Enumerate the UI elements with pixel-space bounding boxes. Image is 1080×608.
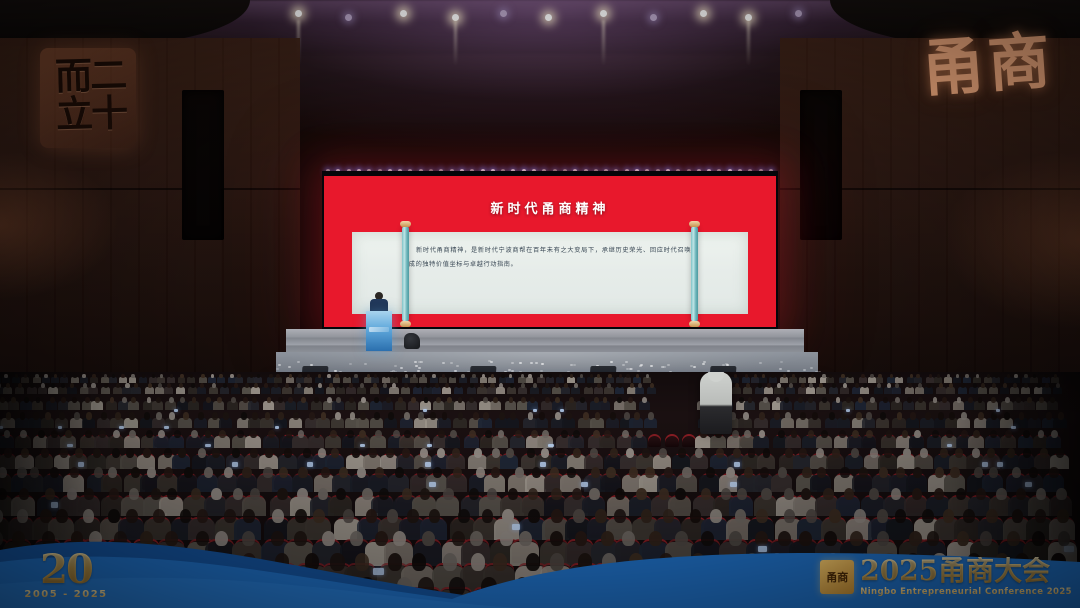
audience-member-head	[591, 467, 600, 478]
audience-member-head	[361, 397, 366, 403]
audience-member-head	[555, 397, 560, 403]
audience-member-head	[629, 467, 638, 478]
audience-member-head	[1036, 488, 1046, 501]
audience-member-body	[953, 377, 961, 383]
audience-member-head	[743, 412, 749, 419]
audience-phone-screen	[758, 546, 767, 553]
audience-member-head	[642, 397, 647, 403]
wall-door-right	[800, 90, 842, 240]
audience-member-head	[447, 397, 452, 403]
audience-member-head	[108, 509, 120, 523]
audience-member-head	[346, 374, 349, 378]
audience-member-head	[528, 488, 538, 501]
audience-member-head	[595, 412, 601, 419]
audience-member-head	[1007, 531, 1020, 547]
audience-member-head	[1004, 412, 1010, 419]
confetti-speck	[297, 361, 300, 363]
audience-member-head	[336, 488, 346, 501]
audience-member-head	[990, 430, 997, 438]
audience-member-body	[401, 387, 410, 394]
audience-member-head	[191, 430, 198, 438]
audience-phone-screen	[540, 462, 546, 466]
audience-member-head	[774, 412, 780, 419]
audience-member-head	[542, 430, 549, 438]
audience-member-head	[4, 430, 11, 438]
audience-phone-screen	[122, 546, 131, 553]
audience-member-body	[874, 387, 883, 394]
audience-member-body	[209, 387, 218, 394]
audience-member-head	[594, 397, 599, 403]
audience-member-head	[604, 430, 611, 438]
audience-member-head	[472, 374, 475, 378]
audience-member-head	[73, 374, 76, 378]
audience-member-head	[217, 553, 231, 570]
audience-member-head	[716, 448, 724, 458]
audience-member-body	[732, 387, 741, 394]
audience-member-head	[920, 448, 928, 458]
audience-member-head	[335, 374, 338, 378]
audience-phone-screen	[423, 409, 427, 412]
confetti-speck	[702, 363, 705, 365]
audience-member-head	[404, 412, 410, 419]
audience-member-head	[330, 430, 337, 438]
audience-member-head	[934, 488, 944, 501]
audience-member-body	[467, 387, 476, 394]
audience-member-head	[628, 397, 633, 403]
audience-member-head	[252, 412, 258, 419]
conference-logo-text: 2025甬商大会 Ningbo Entrepreneurial Conferen…	[860, 557, 1072, 597]
audience-member-head	[318, 448, 326, 458]
audience-member-head	[510, 383, 514, 388]
audience-member-body	[286, 377, 294, 383]
audience-member-head	[250, 374, 253, 378]
audience-member-head	[578, 553, 592, 570]
audience-member-head	[870, 448, 878, 458]
led-screen: 新时代甬商精神 新时代甬商精神，是新时代宁波商帮在百年未有之大变局下，承继历史荣…	[322, 171, 778, 329]
audience-member-head	[398, 397, 403, 403]
audience-member-head	[219, 430, 226, 438]
podium-logo	[369, 327, 389, 332]
conference-seal-icon: 甬商	[820, 560, 854, 594]
audience-member-head	[305, 553, 319, 570]
audience-member-head	[521, 383, 525, 388]
audience-phone-screen	[734, 462, 740, 466]
audience-member-head	[927, 531, 940, 547]
audience-member-body	[477, 387, 486, 394]
audience-member-head	[450, 430, 457, 438]
audience-member-head	[330, 553, 344, 570]
audience-member-head	[856, 412, 862, 419]
audience-member-head	[823, 488, 833, 501]
audience-member-head	[147, 397, 152, 403]
audience-member-head	[469, 397, 474, 403]
audience-member-head	[429, 509, 441, 523]
audience-member-body	[546, 377, 554, 383]
audience-member-head	[976, 488, 986, 501]
audience-member-head	[1014, 374, 1017, 378]
audience-member-head	[602, 553, 616, 570]
audience-member-head	[483, 397, 488, 403]
audience-member-head	[991, 397, 996, 403]
audience-member-head	[696, 577, 712, 596]
audience-member-head	[1050, 397, 1055, 403]
audience-member-head	[442, 412, 448, 419]
confetti-speck	[810, 367, 813, 369]
audience-member-head	[140, 553, 154, 570]
audience-member-head	[557, 448, 565, 458]
audience-member-head	[264, 383, 268, 388]
audience-member-head	[254, 383, 258, 388]
audience-member-head	[70, 467, 79, 478]
audience-member-head	[645, 467, 654, 478]
audience-member-head	[0, 577, 16, 596]
audience-member-head	[204, 467, 213, 478]
audience-member-body	[742, 377, 750, 383]
audience-member-head	[1056, 488, 1066, 501]
audience-member-head	[242, 467, 251, 478]
audience-member-head	[298, 430, 305, 438]
audience-member-head	[1016, 488, 1026, 501]
audience-member-head	[957, 531, 970, 547]
audience-member-head	[550, 553, 564, 570]
audience-member-head	[243, 509, 255, 523]
audience-member-head	[843, 383, 847, 388]
audience-member-body	[643, 377, 651, 383]
audience-member-head	[354, 374, 357, 378]
audience-member-head	[85, 397, 90, 403]
audience-member-head	[230, 374, 233, 378]
audience-member-head	[156, 397, 161, 403]
audience-member-head	[487, 488, 497, 501]
audience-member-head	[75, 448, 83, 458]
audience-member-head	[205, 430, 212, 438]
audience-member-head	[737, 488, 747, 501]
audience-member-body	[936, 387, 945, 394]
audience-member-body	[905, 387, 914, 394]
audience-member-body	[0, 377, 1, 383]
audience-member-head	[910, 374, 913, 378]
audience-member-head	[530, 397, 535, 403]
audience-member-body	[944, 377, 952, 383]
audience-member-head	[946, 430, 953, 438]
audience-member-head	[869, 488, 879, 501]
audience-member-head	[492, 448, 500, 458]
conference-subtitle: Ningbo Entrepreneurial Conference 2025	[860, 587, 1072, 597]
audience-member-body	[860, 387, 869, 394]
audience-member-head	[942, 397, 947, 403]
audience-member-head	[636, 374, 639, 378]
audience-phone-screen	[58, 426, 63, 429]
audience-member-head	[508, 488, 518, 501]
audience-member-head	[318, 374, 321, 378]
audience-member-head	[99, 430, 106, 438]
audience-member-head	[294, 531, 307, 547]
audience-member-head	[4, 448, 12, 458]
audience-member-head	[212, 448, 220, 458]
audience-member-head	[369, 448, 377, 458]
audience-member-body	[584, 387, 593, 394]
audience-member-body	[577, 377, 585, 383]
audience-member-body	[454, 387, 463, 394]
audience-member-head	[1023, 430, 1030, 438]
audience-member-head	[908, 383, 912, 388]
audience-member-head	[242, 553, 256, 570]
audience-member-head	[436, 397, 441, 403]
audience-member-head	[844, 488, 854, 501]
audience-member-body	[537, 377, 545, 383]
audience-member-head	[880, 412, 886, 419]
audience-member-head	[19, 488, 29, 501]
audience-member-head	[1027, 397, 1032, 403]
audience-member-head	[785, 412, 791, 419]
audience-member-body	[304, 377, 312, 383]
anniversary-badge: 20 2005 - 2025	[22, 538, 110, 600]
audience-member-head	[955, 448, 963, 458]
audience-member-head	[131, 397, 136, 403]
audience-member-head	[288, 397, 293, 403]
anniversary-number: 20	[40, 552, 92, 588]
audience-member-body	[840, 387, 849, 394]
audience-member-head	[870, 374, 873, 378]
confetti-speck	[663, 366, 666, 368]
audience-member-head	[60, 448, 68, 458]
audience-member-head	[949, 412, 955, 419]
confetti-speck	[450, 362, 453, 364]
audience-member-head	[1058, 412, 1064, 419]
audience-member-head	[482, 509, 494, 523]
audience-member-head	[986, 509, 998, 523]
spotlight	[600, 10, 607, 17]
audience-member-head	[580, 397, 585, 403]
confetti-speck	[622, 364, 625, 366]
audience-member-body	[594, 387, 603, 394]
audience-member-head	[129, 488, 139, 501]
audience-member-head	[485, 430, 492, 438]
confetti-speck	[418, 361, 421, 363]
audience-member-body	[282, 387, 291, 394]
audience-member-head	[832, 383, 836, 388]
audience-member-body	[615, 387, 624, 394]
audience-member-head	[457, 383, 461, 388]
audience-member-head	[0, 553, 9, 570]
audience-member-head	[38, 430, 45, 438]
audience-phone-screen	[119, 426, 124, 429]
audience-phone-screen	[275, 426, 280, 429]
audience-member-head	[395, 467, 404, 478]
audience-member-head	[321, 412, 327, 419]
audience-member-head	[41, 448, 49, 458]
audience-member-head	[419, 430, 426, 438]
audience-member-head	[160, 374, 163, 378]
audience-member-body	[774, 387, 783, 394]
audience-member-head	[72, 397, 77, 403]
audience-phone-screen	[1064, 546, 1073, 553]
audience-member-head	[197, 509, 209, 523]
audience-member-head	[458, 397, 463, 403]
audience-member-head	[471, 553, 485, 570]
audience-member-head	[470, 383, 474, 388]
audience-member-head	[957, 397, 962, 403]
audience-member-head	[756, 509, 768, 523]
spotlight	[545, 14, 552, 21]
audience-member-body	[197, 387, 206, 394]
audience-member-head	[821, 430, 828, 438]
audience-member-head	[443, 553, 457, 570]
audience-phone-screen	[947, 444, 952, 448]
audience-member-head	[298, 467, 307, 478]
audience-member-body	[1030, 377, 1038, 383]
audience-member-body	[21, 377, 29, 383]
audience-member-head	[735, 383, 739, 388]
audience-member-head	[1051, 430, 1058, 438]
audience-member-head	[682, 467, 691, 478]
audience-member-head	[327, 397, 332, 403]
audience-member-body	[370, 387, 379, 394]
audience-member-head	[659, 448, 667, 458]
audience-member-head	[322, 531, 335, 547]
audience-member-head	[891, 488, 901, 501]
audience-member-body	[442, 387, 451, 394]
audience-member-head	[910, 412, 916, 419]
audience-member-head	[510, 412, 516, 419]
audience-member-body	[149, 377, 157, 383]
audience-member-body	[38, 387, 47, 394]
confetti-speck	[530, 362, 533, 364]
audience-member-head	[126, 577, 142, 596]
audience-member-head	[265, 448, 273, 458]
audience-member-head	[816, 448, 824, 458]
audience-member-head	[490, 383, 494, 388]
audience-member-head	[619, 374, 622, 378]
audience-member-head	[770, 553, 784, 570]
audience-phone-screen	[1025, 482, 1032, 487]
audience-member-head	[183, 412, 189, 419]
audience-member-body	[315, 387, 324, 394]
audience-member-head	[263, 467, 272, 478]
audience-member-body	[780, 377, 788, 383]
audience-phone-screen	[67, 444, 72, 448]
audience-member-head	[555, 412, 561, 419]
audience-member-head	[174, 430, 181, 438]
audience-member-body	[806, 387, 815, 394]
scroll-roller-right	[691, 226, 698, 322]
wall-seal-left-text: 二十而立	[52, 55, 124, 141]
audience-member-head	[648, 412, 654, 419]
audience-member-head	[675, 531, 688, 547]
audience-member-head	[474, 448, 482, 458]
audience-member-body	[439, 377, 447, 383]
audience-member-head	[574, 383, 578, 388]
audience-member-head	[150, 577, 166, 596]
audience-member-body	[759, 377, 767, 383]
audience-member-head	[360, 412, 366, 419]
audience-member-head	[470, 531, 483, 547]
audience-member-head	[278, 412, 284, 419]
audience-member-head	[180, 397, 185, 403]
audience-member-head	[375, 467, 384, 478]
wall-seal-left: 二十而立	[40, 48, 136, 148]
audience-member-body	[402, 377, 410, 383]
audience-member-body	[220, 387, 229, 394]
audience-member-body	[251, 387, 260, 394]
audience-member-head	[622, 430, 629, 438]
audience-member-head	[1019, 412, 1025, 419]
audience-member-body	[242, 387, 251, 394]
audience-member-head	[63, 374, 66, 378]
audience-phone-screen	[581, 482, 588, 487]
audience-member-head	[801, 488, 811, 501]
audience-member-head	[642, 448, 650, 458]
audience-member-head	[45, 412, 51, 419]
audience-member-head	[232, 448, 240, 458]
confetti-speck	[276, 368, 279, 370]
audience-member-head	[180, 374, 183, 378]
audience-member-body	[390, 377, 398, 383]
audience-member-body	[764, 387, 773, 394]
audience-member-head	[245, 383, 249, 388]
confetti-speck	[541, 363, 544, 365]
audience-member-head	[1012, 509, 1024, 523]
audience-member-head	[362, 488, 372, 501]
audience-member-head	[848, 374, 851, 378]
audience-member-head	[91, 383, 95, 388]
audience-member-head	[895, 397, 900, 403]
audience-member-body	[1000, 387, 1009, 394]
audience-member-head	[359, 430, 366, 438]
audience-member-head	[83, 383, 87, 388]
audience-member-head	[1046, 412, 1052, 419]
audience-member-head	[51, 430, 58, 438]
audience-member-head	[252, 397, 257, 403]
audience-member-head	[250, 448, 258, 458]
audience-member-head	[1049, 467, 1058, 478]
audience-member-head	[763, 397, 768, 403]
audience-member-head	[961, 430, 968, 438]
wall-glow-left	[0, 150, 120, 300]
audience-member-head	[224, 509, 236, 523]
audience-phone-screen	[51, 502, 59, 507]
audience-member-head	[481, 577, 497, 596]
audience-member-head	[528, 374, 531, 378]
audience-member-body	[357, 387, 366, 394]
audience-phone-screen	[996, 409, 1000, 412]
spotlight	[500, 10, 507, 17]
audience-member-head	[200, 383, 204, 388]
audience-member-head	[223, 412, 229, 419]
audience-phone-screen	[560, 409, 564, 412]
audience-member-head	[515, 577, 531, 596]
audience-member-head	[748, 577, 764, 596]
audience-member-head	[355, 553, 369, 570]
audience-member-head	[630, 577, 646, 596]
audience-member-head	[156, 412, 162, 419]
confetti-speck	[288, 366, 291, 368]
audience-member-head	[701, 531, 714, 547]
audience-member-body	[113, 387, 122, 394]
audience-member-head	[550, 531, 563, 547]
audience-member-head	[41, 383, 45, 388]
spotlight	[400, 10, 407, 17]
audience-member-head	[829, 509, 841, 523]
audience-member-head	[21, 448, 29, 458]
audience-member-head	[169, 412, 175, 419]
audience-member-head	[877, 383, 881, 388]
audience-member-head	[198, 412, 204, 419]
audience-member-head	[710, 509, 722, 523]
audience-member-head	[1005, 397, 1010, 403]
audience-member-head	[663, 509, 675, 523]
audience-phone-screen	[205, 444, 210, 448]
